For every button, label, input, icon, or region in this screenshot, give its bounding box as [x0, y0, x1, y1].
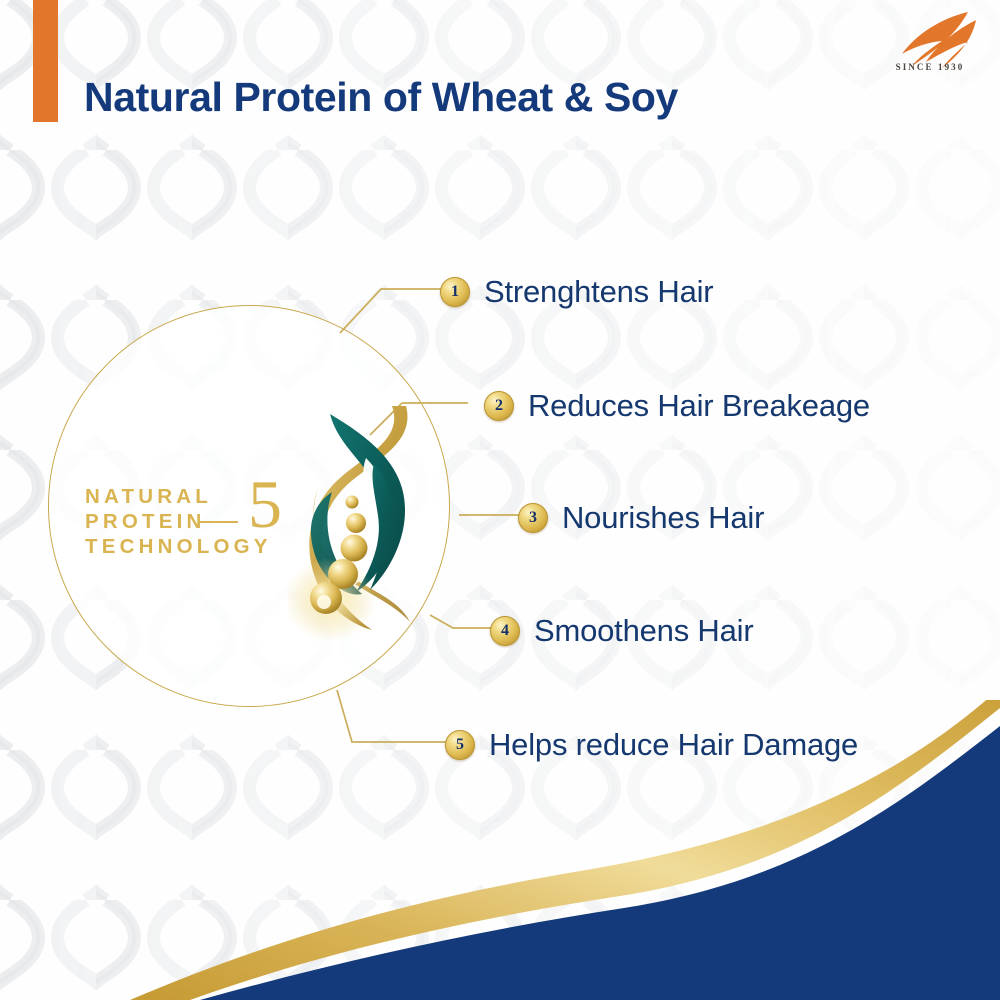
- emblem-strike-rule: [198, 521, 238, 523]
- emblem-line-protein: PROTEIN: [85, 509, 272, 534]
- page-title: Natural Protein of Wheat & Soy: [84, 74, 678, 121]
- benefit-item-2[interactable]: 2 Reduces Hair Breakeage: [484, 388, 870, 424]
- emblem-wordmark: NATURAL PROTEIN TECHNOLOGY: [85, 484, 272, 559]
- benefit-label-1: Strenghtens Hair: [484, 274, 713, 310]
- emblem-line-technology: TECHNOLOGY: [85, 534, 272, 559]
- emblem-number-five: 5: [248, 470, 282, 538]
- emblem-line-natural: NATURAL: [85, 484, 272, 509]
- benefit-label-2: Reduces Hair Breakeage: [528, 388, 870, 424]
- benefit-item-5[interactable]: 5 Helps reduce Hair Damage: [445, 727, 858, 763]
- benefit-item-3[interactable]: 3 Nourishes Hair: [518, 500, 764, 536]
- benefit-badge-5: 5: [445, 730, 475, 760]
- title-accent-bar: [33, 0, 58, 122]
- dna-helix-leaf-icon: [288, 392, 438, 642]
- brand-flame-swoosh-icon: [872, 8, 984, 86]
- benefit-badge-4: 4: [490, 616, 520, 646]
- benefit-badge-2: 2: [484, 391, 514, 421]
- benefit-label-3: Nourishes Hair: [562, 500, 764, 536]
- brand-since-label: SINCE 1930: [878, 62, 982, 72]
- benefit-badge-3: 3: [518, 503, 548, 533]
- benefit-label-4: Smoothens Hair: [534, 613, 753, 649]
- benefit-badge-1: 1: [440, 277, 470, 307]
- benefit-label-5: Helps reduce Hair Damage: [489, 727, 858, 763]
- benefit-item-4[interactable]: 4 Smoothens Hair: [490, 613, 753, 649]
- benefit-item-1[interactable]: 1 Strenghtens Hair: [440, 274, 713, 310]
- infographic-canvas: SINCE 1930 Natural Protein of Wheat & So…: [0, 0, 1000, 1000]
